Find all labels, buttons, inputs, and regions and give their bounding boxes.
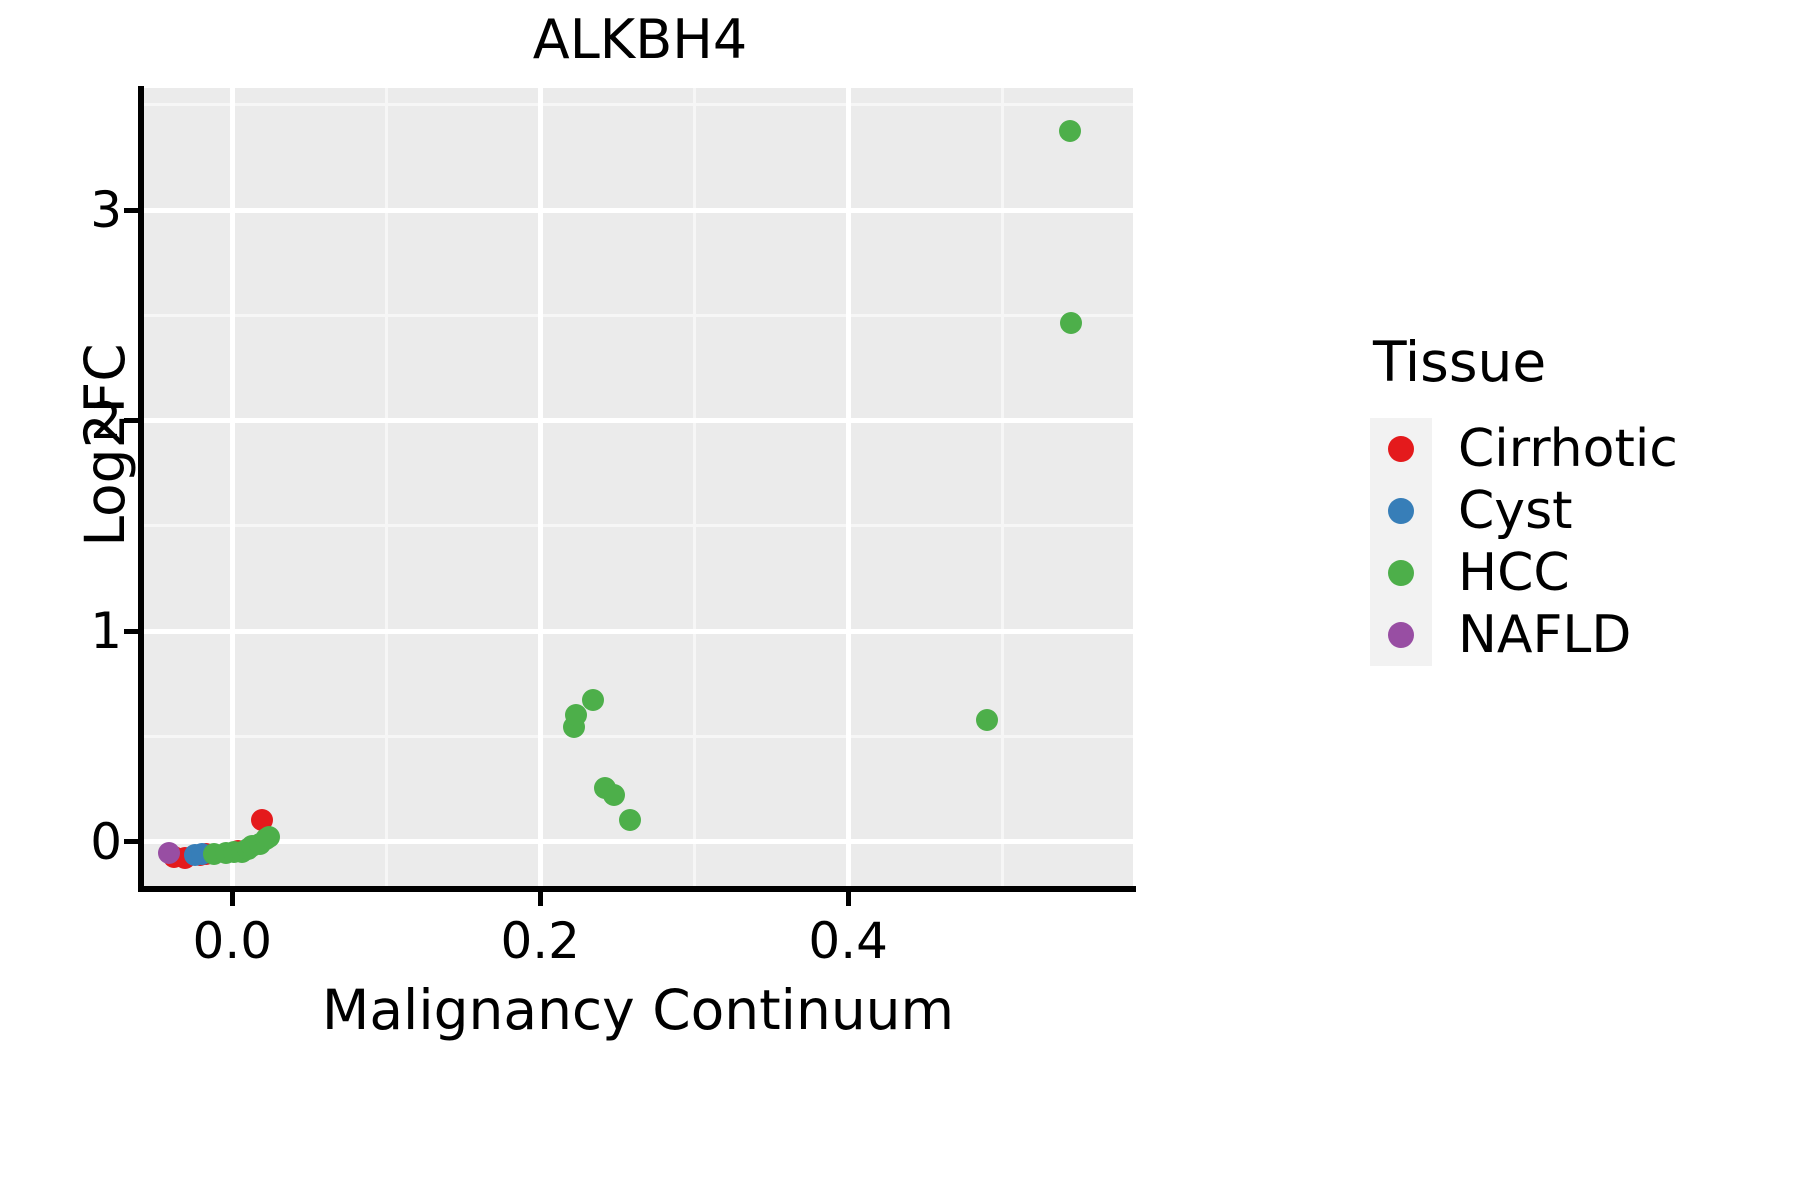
legend-item-hcc[interactable]: HCC	[1370, 542, 1790, 604]
y-axis-tick-label: 2	[90, 392, 122, 450]
gridline-minor-horizontal	[143, 735, 1133, 738]
y-axis-tick	[124, 839, 140, 844]
legend-key-swatch	[1370, 480, 1432, 542]
data-point-hcc	[582, 689, 604, 711]
gridline-major-horizontal	[143, 839, 1133, 844]
gridline-major-vertical	[230, 88, 235, 888]
legend-dot-icon	[1388, 436, 1414, 462]
y-axis-tick-label: 3	[90, 181, 122, 239]
legend-title: Tissue	[1373, 330, 1790, 394]
legend-dot-icon	[1388, 560, 1414, 586]
gridline-major-vertical	[538, 88, 543, 888]
legend-item-cyst[interactable]: Cyst	[1370, 480, 1790, 542]
x-axis-label: Malignancy Continuum	[143, 978, 1133, 1042]
legend-entries: CirrhoticCystHCCNAFLD	[1370, 418, 1790, 666]
gridline-minor-horizontal	[143, 524, 1133, 527]
gridline-major-horizontal	[143, 208, 1133, 213]
data-point-hcc	[1060, 312, 1082, 334]
legend-dot-icon	[1388, 498, 1414, 524]
x-axis-tick	[846, 890, 851, 906]
legend-item-label: NAFLD	[1458, 609, 1631, 661]
x-axis-tick-label: 0.4	[808, 912, 888, 970]
data-point-hcc	[258, 826, 280, 848]
legend-item-label: HCC	[1458, 547, 1570, 599]
data-point-nafld	[158, 842, 180, 864]
legend-item-nafld[interactable]: NAFLD	[1370, 604, 1790, 666]
legend: Tissue CirrhoticCystHCCNAFLD	[1370, 330, 1790, 666]
data-point-hcc	[619, 809, 641, 831]
plot-panel	[143, 88, 1133, 888]
x-axis-line	[138, 886, 1136, 892]
data-point-hcc	[603, 784, 625, 806]
y-axis-tick-label: 0	[90, 813, 122, 871]
y-axis-tick	[124, 418, 140, 423]
page-title: ALKBH4	[140, 8, 1140, 71]
x-axis-tick-label: 0.2	[500, 912, 580, 970]
y-axis-tick	[124, 208, 140, 213]
x-axis-tick	[230, 890, 235, 906]
y-axis-tick	[124, 629, 140, 634]
gridline-minor-horizontal	[143, 103, 1133, 106]
gridline-major-horizontal	[143, 629, 1133, 634]
legend-dot-icon	[1388, 622, 1414, 648]
data-point-hcc	[1059, 120, 1081, 142]
legend-item-label: Cyst	[1458, 485, 1573, 537]
legend-key-swatch	[1370, 604, 1432, 666]
data-point-hcc	[976, 709, 998, 731]
legend-item-cirrhotic[interactable]: Cirrhotic	[1370, 418, 1790, 480]
gridline-minor-horizontal	[143, 314, 1133, 317]
legend-item-label: Cirrhotic	[1458, 423, 1678, 475]
gridline-major-horizontal	[143, 418, 1133, 423]
x-axis-tick-label: 0.0	[193, 912, 273, 970]
scatter-plot-figure: ALKBH4 Malignancy Continuum Log2FC Tissu…	[0, 0, 1800, 1200]
y-axis-tick-label: 1	[90, 602, 122, 660]
legend-key-swatch	[1370, 418, 1432, 480]
x-axis-tick	[538, 890, 543, 906]
gridline-major-vertical	[846, 88, 851, 888]
legend-key-swatch	[1370, 542, 1432, 604]
